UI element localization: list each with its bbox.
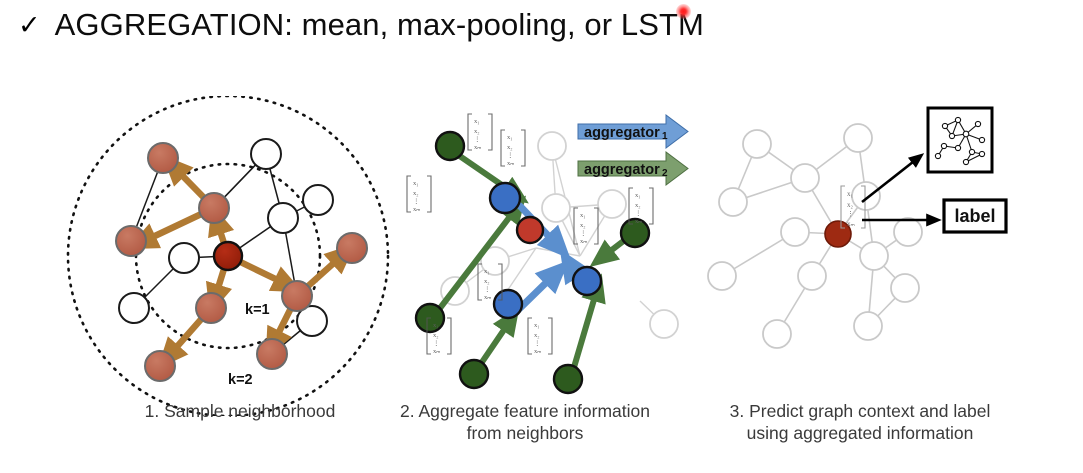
caption-3-line-2: using aggregated information [680,422,1040,444]
label-box: label [944,200,1006,232]
page-title: AGGREGATION: mean, max-pooling, or LSTM [55,8,704,42]
svg-text:⋮: ⋮ [507,152,514,159]
svg-text:⋮: ⋮ [484,286,491,293]
caption-panel-2: 2. Aggregate feature information from ne… [355,400,695,445]
svg-text:x₂: x₂ [635,202,641,209]
caption-2-line-1: 2. Aggregate feature information [355,400,695,422]
svg-text:xₘ: xₘ [474,144,481,151]
slide-canvas: ✓ AGGREGATION: mean, max-pooling, or LST… [0,0,1083,473]
svg-text:x₁: x₁ [507,134,513,141]
legend-aggregator2: aggregator 2 [578,152,688,185]
legend-aggregator1: aggregator 1 [578,115,688,148]
svg-text:xₘ: xₘ [534,348,541,355]
svg-text:x₁: x₁ [433,322,439,329]
svg-text:x₂: x₂ [413,190,419,197]
legend-label-2: aggregator [584,162,660,178]
checkmark-icon: ✓ [18,12,41,39]
graphsage-figure: k=1 k=2 [0,96,1083,416]
svg-text:x₁: x₁ [635,192,641,199]
svg-text:⋮: ⋮ [413,198,420,205]
svg-text:xₘ: xₘ [507,160,514,167]
slide-title-row: ✓ AGGREGATION: mean, max-pooling, or LST… [18,8,704,42]
caption-2-line-2: from neighbors [355,422,695,444]
aggregator2-arrows [434,148,630,374]
svg-text:x₁: x₁ [484,268,490,275]
panel-sample: k=1 k=2 [68,96,388,416]
svg-text:⋮: ⋮ [433,340,440,347]
svg-text:x₁: x₁ [474,118,480,125]
svg-text:x₁: x₁ [847,190,853,198]
svg-text:xₘ: xₘ [433,348,440,355]
svg-text:x₂: x₂ [474,128,480,135]
svg-text:x₂: x₂ [580,222,586,229]
panel-predict: x₁x₂ ⋮xₘ [708,108,1006,348]
svg-text:xₘ: xₘ [635,218,642,225]
svg-text:xₘ: xₘ [847,220,855,228]
svg-text:x₁: x₁ [534,322,540,329]
svg-text:xₘ: xₘ [413,206,420,213]
label-box-text: label [954,206,995,226]
svg-text:x₁: x₁ [580,212,586,219]
caption-panel-3: 3. Predict graph context and label using… [680,400,1040,445]
legend-sub-2: 2 [662,168,668,179]
svg-text:x₂: x₂ [433,332,439,339]
target-node [517,217,543,243]
svg-text:x₂: x₂ [534,332,540,339]
svg-text:⋮: ⋮ [635,210,642,217]
legend-sub-1: 1 [662,131,668,142]
svg-text:xₘ: xₘ [580,238,587,245]
svg-text:x₂: x₂ [847,201,854,209]
svg-text:xₘ: xₘ [484,294,491,301]
svg-text:x₁: x₁ [413,180,419,187]
panel-aggregate: x₁x₂⋮xₘ x₁x₂⋮xₘ x₁x₂⋮xₘ x₁x₂⋮xₘ x₁x₂⋮xₘ … [407,114,688,393]
graph-nodes [708,124,922,348]
ring-label-k2: k=2 [228,372,253,388]
graph-context-box [928,108,992,172]
target-node [214,242,242,270]
legend-label-1: aggregator [584,125,660,141]
svg-text:⋮: ⋮ [534,340,541,347]
svg-text:⋮: ⋮ [580,230,587,237]
svg-text:x₂: x₂ [507,144,513,151]
caption-3-line-1: 3. Predict graph context and label [680,400,1040,422]
svg-text:x₂: x₂ [484,278,490,285]
svg-text:⋮: ⋮ [847,210,854,218]
svg-text:⋮: ⋮ [474,136,481,143]
ring-label-k1: k=1 [245,302,270,318]
